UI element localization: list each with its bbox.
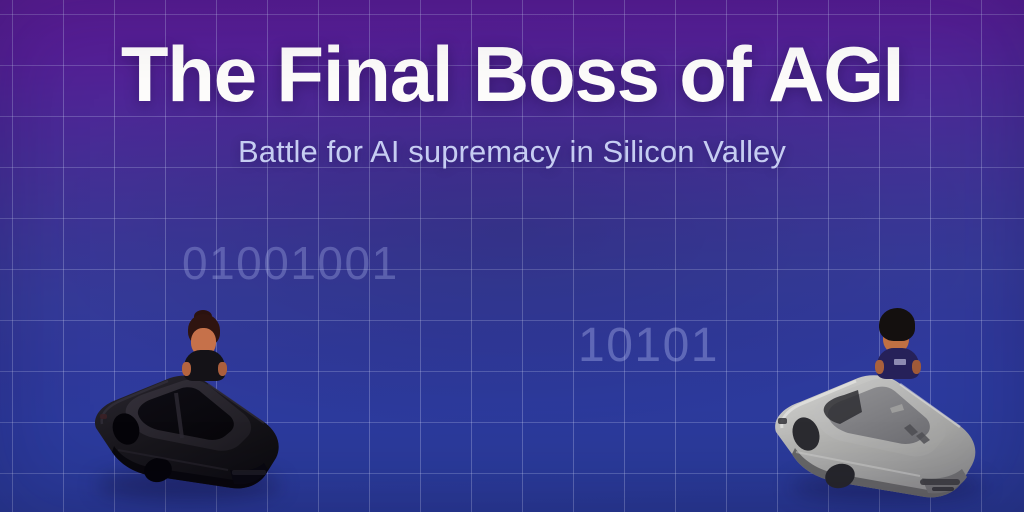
poster-title: The Final Boss of AGI: [0, 0, 1024, 112]
left-car-icon: [78, 366, 298, 506]
binary-decoration-left: 01001001: [182, 236, 399, 290]
left-character-avatar: [180, 310, 232, 382]
right-character-shirt-logo: [894, 359, 906, 365]
right-character-arm-left: [875, 360, 884, 374]
poster-canvas: 01001001 10101 The Final Boss of AGI Bat…: [0, 0, 1024, 512]
poster-subtitle: Battle for AI supremacy in Silicon Valle…: [0, 112, 1024, 170]
headline-block: The Final Boss of AGI Battle for AI supr…: [0, 0, 1024, 170]
binary-decoration-right: 10101: [578, 318, 719, 373]
right-character-avatar: [872, 306, 926, 380]
right-character-arm-right: [912, 360, 921, 374]
right-car-icon: [762, 366, 992, 512]
right-character-hair: [879, 308, 915, 341]
left-character-arm-right: [218, 362, 227, 376]
right-sports-car: [762, 366, 992, 512]
left-sports-car: [78, 366, 298, 506]
left-character-arm-left: [182, 362, 191, 376]
